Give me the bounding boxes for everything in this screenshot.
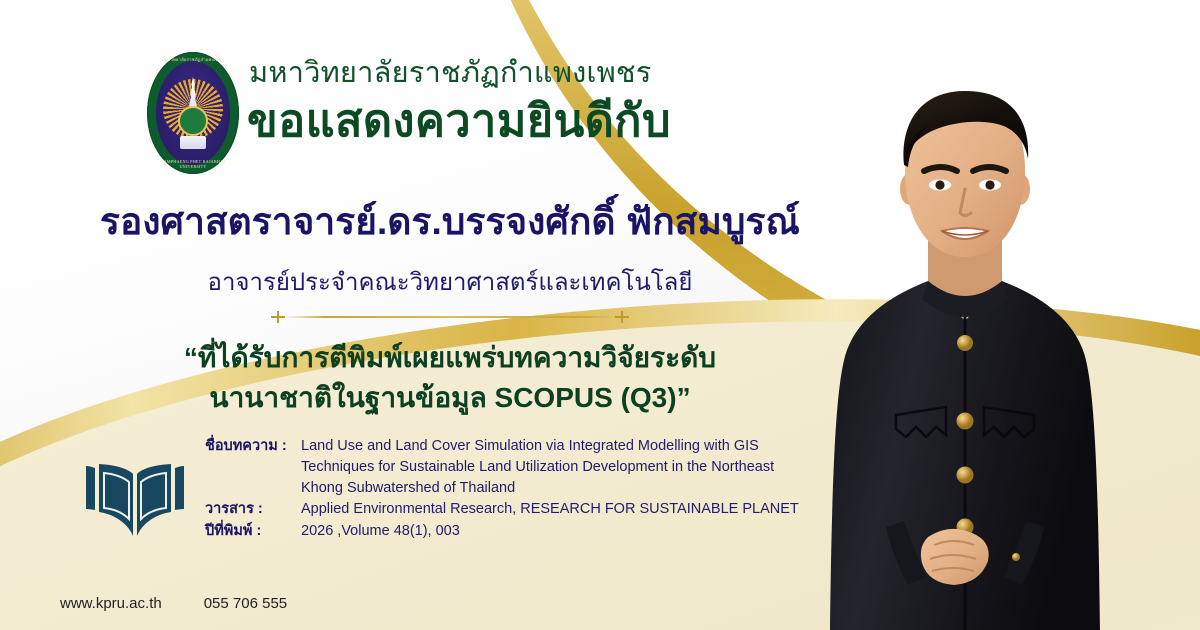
congratulation-banner: มหาวิทยาลัยราชภัฏกำแพงเพชร KAMPHAENG PHE… <box>0 0 1200 630</box>
seal-inner-field <box>156 61 230 165</box>
open-book-icon <box>83 452 187 538</box>
footer-contact: www.kpru.ac.th 055 706 555 <box>60 595 287 612</box>
divider-star-left-icon <box>271 310 285 324</box>
phone-number: 055 706 555 <box>204 595 287 612</box>
seal-text-top: มหาวิทยาลัยราชภัฏกำแพงเพชร <box>147 56 239 63</box>
collar-button <box>957 335 973 351</box>
divider-line <box>285 316 615 318</box>
seal-text-bottom: KAMPHAENG PHET RAJABHAT UNIVERSITY <box>147 159 239 169</box>
jacket-button-2 <box>957 467 974 484</box>
divider-star-right-icon <box>615 310 629 324</box>
detail-label-journal: วารสาร : <box>205 499 301 520</box>
jacket-button-1 <box>957 413 974 430</box>
achievement-quote-line1: “ที่ได้รับการตีพิมพ์เผยแพร่บทความวิจัยระ… <box>0 338 900 378</box>
pagoda-base-icon <box>180 136 206 149</box>
detail-label-title: ชื่อบทความ : <box>205 436 301 457</box>
website-url[interactable]: www.kpru.ac.th <box>60 595 162 612</box>
university-seal-logo: มหาวิทยาลัยราชภัฏกำแพงเพชร KAMPHAENG PHE… <box>147 52 239 174</box>
detail-value-year: 2026 ,Volume 48(1), 003 <box>301 521 460 542</box>
detail-value-journal: Applied Environmental Research, RESEARCH… <box>301 499 799 520</box>
university-name: มหาวิทยาลัยราชภัฏกำแพงเพชร <box>249 58 652 90</box>
detail-label-year: ปีที่พิมพ์ : <box>205 521 301 542</box>
congratulations-headline: ขอแสดงความยินดีกับ <box>247 97 671 144</box>
detail-value-title-line1: Land Use and Land Cover Simulation via I… <box>301 436 759 457</box>
cuff-button <box>1012 553 1020 561</box>
achievement-quote-line2: นานาชาติในฐานข้อมูล SCOPUS (Q3)” <box>0 378 900 418</box>
honoree-portrait-photo <box>800 85 1130 630</box>
